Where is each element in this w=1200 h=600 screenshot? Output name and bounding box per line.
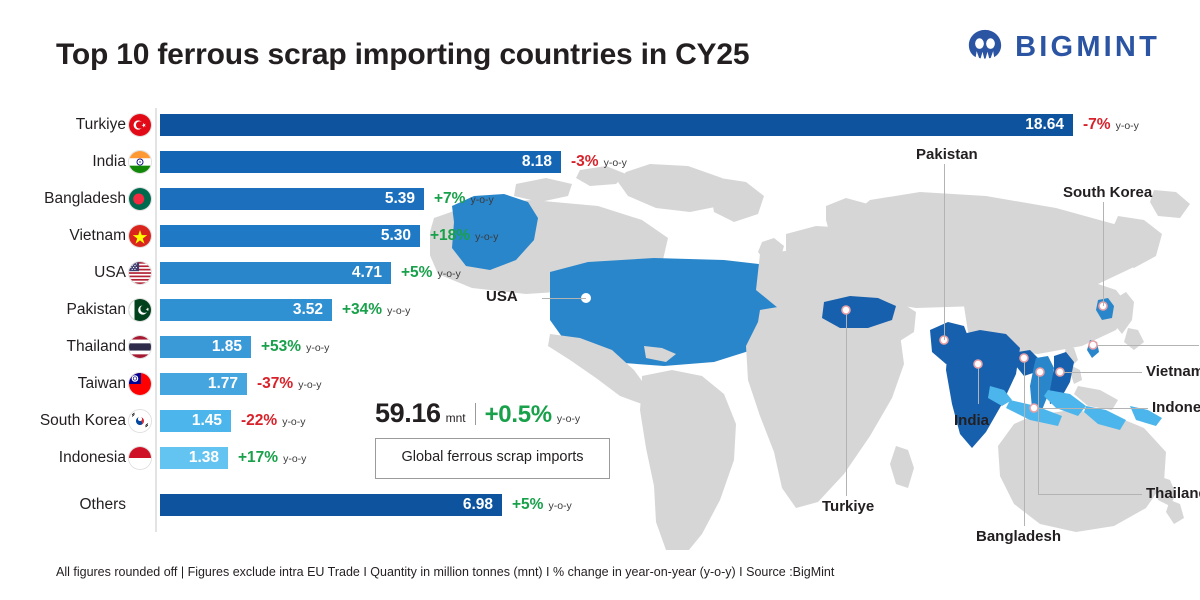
bar-bangladesh: 5.39	[160, 188, 424, 210]
bigmint-logo: BIGMINT	[966, 28, 1160, 66]
bar-change: -37%y-o-y	[257, 375, 322, 393]
bar-row: Taiwan1.77-37%y-o-y	[0, 365, 1200, 402]
bar-taiwan: 1.77	[160, 373, 247, 395]
bar-change-yoy: y-o-y	[298, 379, 321, 391]
flag-usa-icon	[128, 261, 152, 285]
summary-unit: mnt	[446, 411, 466, 425]
bar-change: +7%y-o-y	[434, 190, 494, 208]
bar-value: 4.71	[352, 264, 391, 282]
bar-indonesia: 1.38	[160, 447, 228, 469]
bar-change-yoy: y-o-y	[1116, 120, 1139, 132]
bar-change-percent: -7%	[1083, 116, 1111, 134]
bar-change-yoy: y-o-y	[306, 342, 329, 354]
bar-change-percent: +7%	[434, 190, 465, 208]
bar-row-label-taiwan: Taiwan	[78, 375, 126, 393]
bar-row: Turkiye18.64-7%y-o-y	[0, 106, 1200, 143]
bar-row-label-vietnam: Vietnam	[69, 227, 126, 245]
bar-row-label-turkiye: Turkiye	[76, 116, 126, 134]
bar-pakistan: 3.52	[160, 299, 332, 321]
bar-change: -7%y-o-y	[1083, 116, 1139, 134]
bar-change-yoy: y-o-y	[475, 231, 498, 243]
bar-row-label-thailand: Thailand	[67, 338, 126, 356]
bar-value: 1.38	[189, 449, 228, 467]
bar-change-percent: +34%	[342, 301, 382, 319]
bar-row-label-south-korea: South Korea	[40, 412, 126, 430]
bar-change: +17%y-o-y	[238, 449, 306, 467]
bar-south-korea: 1.45	[160, 410, 231, 432]
bar-row: Bangladesh5.39+7%y-o-y	[0, 180, 1200, 217]
infographic-root: Top 10 ferrous scrap importing countries…	[0, 0, 1200, 600]
bar-value: 5.30	[381, 227, 420, 245]
flag-india-icon	[128, 150, 152, 174]
bar-change-yoy: y-o-y	[283, 453, 306, 465]
bar-value: 8.18	[522, 153, 561, 171]
bar-change-percent: +5%	[512, 496, 543, 514]
summary-growth-yoy: y-o-y	[557, 413, 580, 425]
bar-change-yoy: y-o-y	[604, 157, 627, 169]
bar-vietnam: 5.30	[160, 225, 420, 247]
flag-pakistan-icon	[128, 298, 152, 322]
bar-change: -3%y-o-y	[571, 153, 627, 171]
bar-change: +18%y-o-y	[430, 227, 498, 245]
bar-change: +34%y-o-y	[342, 301, 410, 319]
bar-row: Others6.98+5%y-o-y	[0, 486, 1200, 523]
bar-change-percent: +17%	[238, 449, 278, 467]
summary-caption: Global ferrous scrap imports	[375, 438, 610, 479]
global-summary-callout: 59.16 mnt +0.5% y-o-y Global ferrous scr…	[375, 398, 610, 479]
summary-divider	[475, 403, 476, 425]
bar-usa: 4.71	[160, 262, 391, 284]
flag-thailand-icon	[128, 335, 152, 359]
bar-change-percent: +5%	[401, 264, 432, 282]
bar-change-percent: -22%	[241, 412, 277, 430]
summary-total: 59.16	[375, 398, 441, 429]
bar-row-label-others: Others	[79, 496, 126, 514]
bar-change: +5%y-o-y	[401, 264, 461, 282]
bar-change-percent: -37%	[257, 375, 293, 393]
bigmint-mark-icon	[966, 28, 1004, 66]
footnote: All figures rounded off | Figures exclud…	[56, 565, 834, 579]
bar-row-label-india: India	[92, 153, 126, 171]
summary-headline: 59.16 mnt +0.5% y-o-y	[375, 398, 610, 429]
bar-value: 3.52	[293, 301, 332, 319]
bar-thailand: 1.85	[160, 336, 251, 358]
bar-change-yoy: y-o-y	[470, 194, 493, 206]
bar-row-label-usa: USA	[94, 264, 126, 282]
bar-change-percent: +53%	[261, 338, 301, 356]
bar-row-label-pakistan: Pakistan	[67, 301, 126, 319]
flag-turkiye-icon	[128, 113, 152, 137]
bar-value: 1.77	[208, 375, 247, 393]
bar-india: 8.18	[160, 151, 561, 173]
bar-change: +5%y-o-y	[512, 496, 572, 514]
bar-change: -22%y-o-y	[241, 412, 306, 430]
flag-taiwan-icon	[128, 372, 152, 396]
page-title: Top 10 ferrous scrap importing countries…	[56, 38, 749, 72]
bar-row: USA4.71+5%y-o-y	[0, 254, 1200, 291]
bar-value: 6.98	[463, 496, 502, 514]
bigmint-wordmark: BIGMINT	[1015, 31, 1160, 64]
bar-value: 1.85	[212, 338, 251, 356]
bar-row: Vietnam5.30+18%y-o-y	[0, 217, 1200, 254]
summary-growth: +0.5%	[485, 401, 552, 429]
flag-bangladesh-icon	[128, 187, 152, 211]
flag-indonesia-icon	[128, 446, 152, 470]
bar-value: 1.45	[192, 412, 231, 430]
bar-row-label-indonesia: Indonesia	[59, 449, 126, 467]
flag-vietnam-icon	[128, 224, 152, 248]
bar-row-label-bangladesh: Bangladesh	[44, 190, 126, 208]
bar-change-yoy: y-o-y	[282, 416, 305, 428]
bar-row: Thailand1.85+53%y-o-y	[0, 328, 1200, 365]
bar-change: +53%y-o-y	[261, 338, 329, 356]
bar-change-yoy: y-o-y	[548, 500, 571, 512]
bar-row: India8.18-3%y-o-y	[0, 143, 1200, 180]
bar-turkiye: 18.64	[160, 114, 1073, 136]
bar-row: Pakistan3.52+34%y-o-y	[0, 291, 1200, 328]
bar-value: 18.64	[1025, 116, 1073, 134]
bar-change-percent: -3%	[571, 153, 599, 171]
bar-change-yoy: y-o-y	[437, 268, 460, 280]
bar-change-yoy: y-o-y	[387, 305, 410, 317]
flag-south-korea-icon	[128, 409, 152, 433]
bar-others: 6.98	[160, 494, 502, 516]
bar-value: 5.39	[385, 190, 424, 208]
bar-change-percent: +18%	[430, 227, 470, 245]
